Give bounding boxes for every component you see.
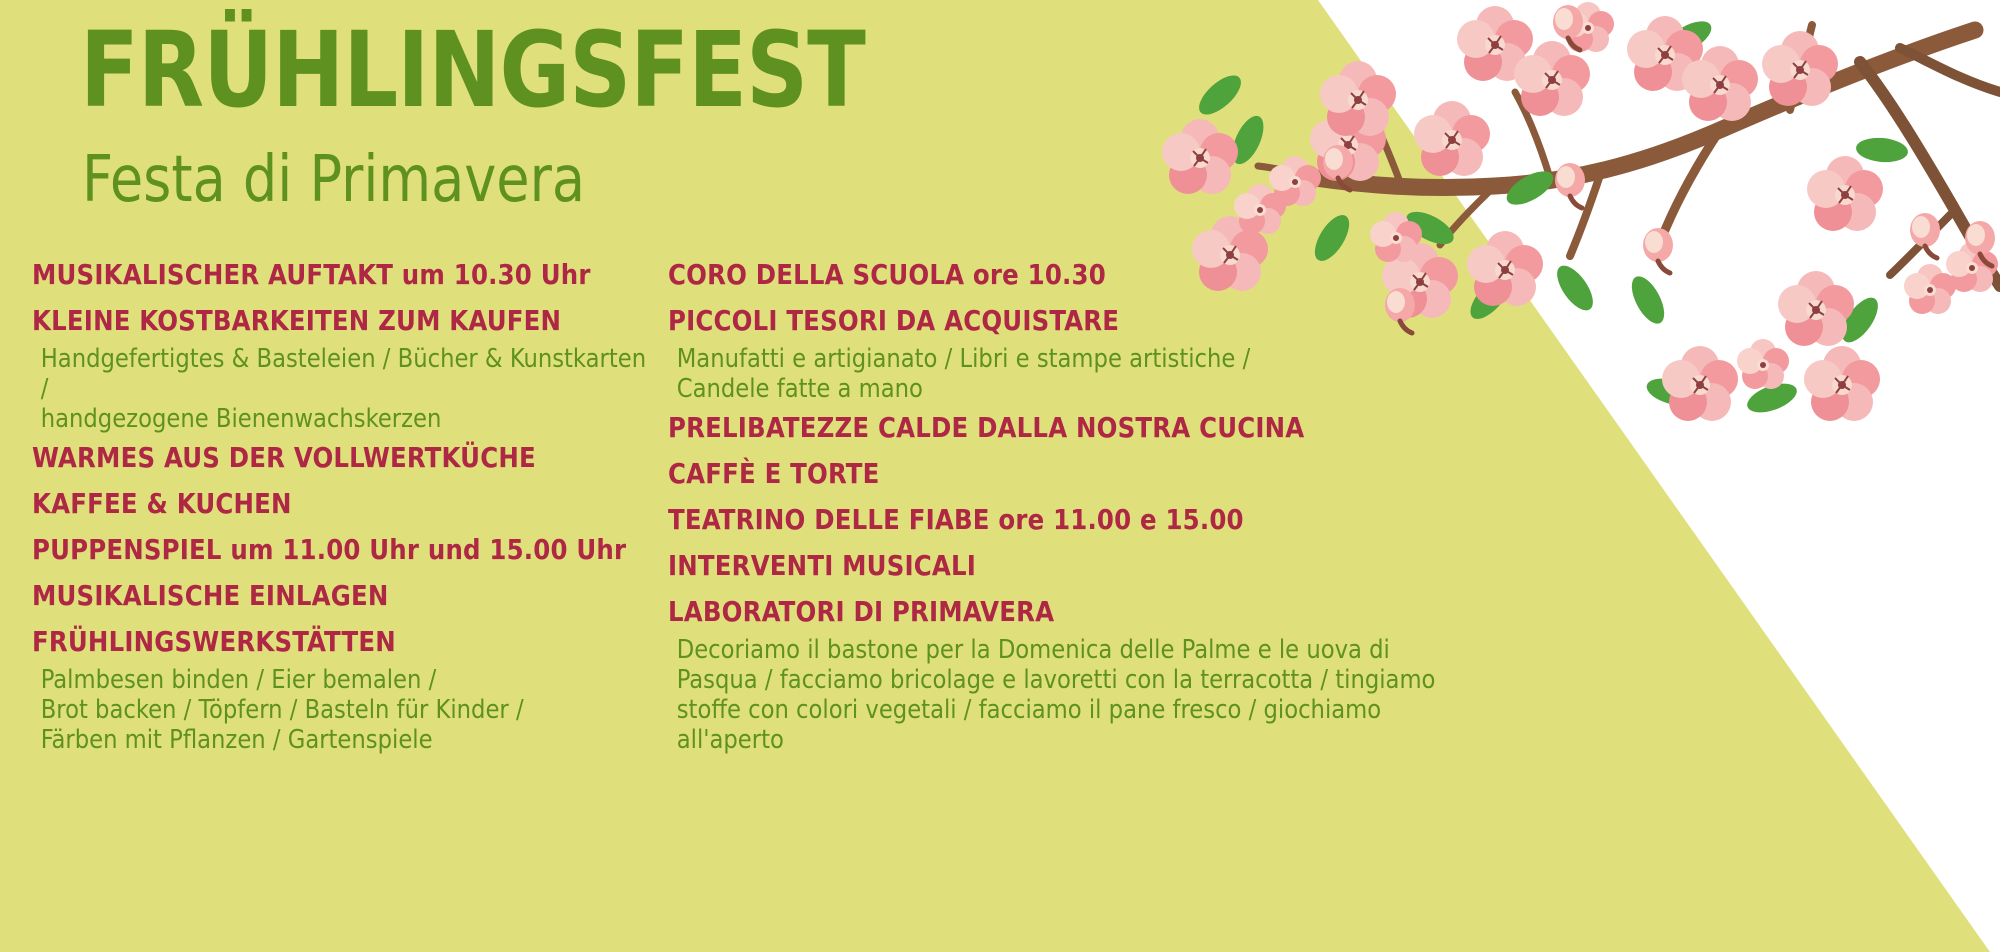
program-heading: MUSIKALISCHER AUFTAKT um 10.30 Uhr <box>32 252 653 298</box>
program-column-german: MUSIKALISCHER AUFTAKT um 10.30 UhrKLEINE… <box>32 252 672 755</box>
program-column-italian: CORO DELLA SCUOLA ore 10.30PICCOLI TESOR… <box>668 252 1488 755</box>
poster-canvas: FRÜHLINGSFEST Festa di Primavera MUSIKAL… <box>0 0 2000 952</box>
program-detail: Handgefertigtes & Basteleien / Bücher & … <box>32 344 653 434</box>
program-heading: PUPPENSPIEL um 11.00 Uhr und 15.00 Uhr <box>32 527 653 573</box>
program-detail: Palmbesen binden / Eier bemalen / Brot b… <box>32 665 653 755</box>
program-heading: CAFFÈ E TORTE <box>668 451 1463 497</box>
program-heading: WARMES AUS DER VOLLWERTKÜCHE <box>32 434 653 481</box>
page-title: FRÜHLINGSFEST <box>80 18 865 122</box>
program-heading: LABORATORI DI PRIMAVERA <box>668 589 1463 635</box>
page-subtitle: Festa di Primavera <box>82 148 585 212</box>
program-detail: Decoriamo il bastone per la Domenica del… <box>668 635 1463 755</box>
program-heading: TEATRINO DELLE FIABE ore 11.00 e 15.00 <box>668 497 1463 543</box>
program-heading: FRÜHLINGSWERKSTÄTTEN <box>32 619 653 665</box>
program-heading: MUSIKALISCHE EINLAGEN <box>32 573 653 619</box>
program-heading: PICCOLI TESORI DA ACQUISTARE <box>668 298 1463 344</box>
program-heading: CORO DELLA SCUOLA ore 10.30 <box>668 252 1463 298</box>
program-heading: PRELIBATEZZE CALDE DALLA NOSTRA CUCINA <box>668 404 1463 451</box>
program-heading: KLEINE KOSTBARKEITEN ZUM KAUFEN <box>32 298 653 344</box>
program-heading: KAFFEE & KUCHEN <box>32 481 653 527</box>
program-heading: INTERVENTI MUSICALI <box>668 543 1463 589</box>
program-detail: Manufatti e artigianato / Libri e stampe… <box>668 344 1463 404</box>
